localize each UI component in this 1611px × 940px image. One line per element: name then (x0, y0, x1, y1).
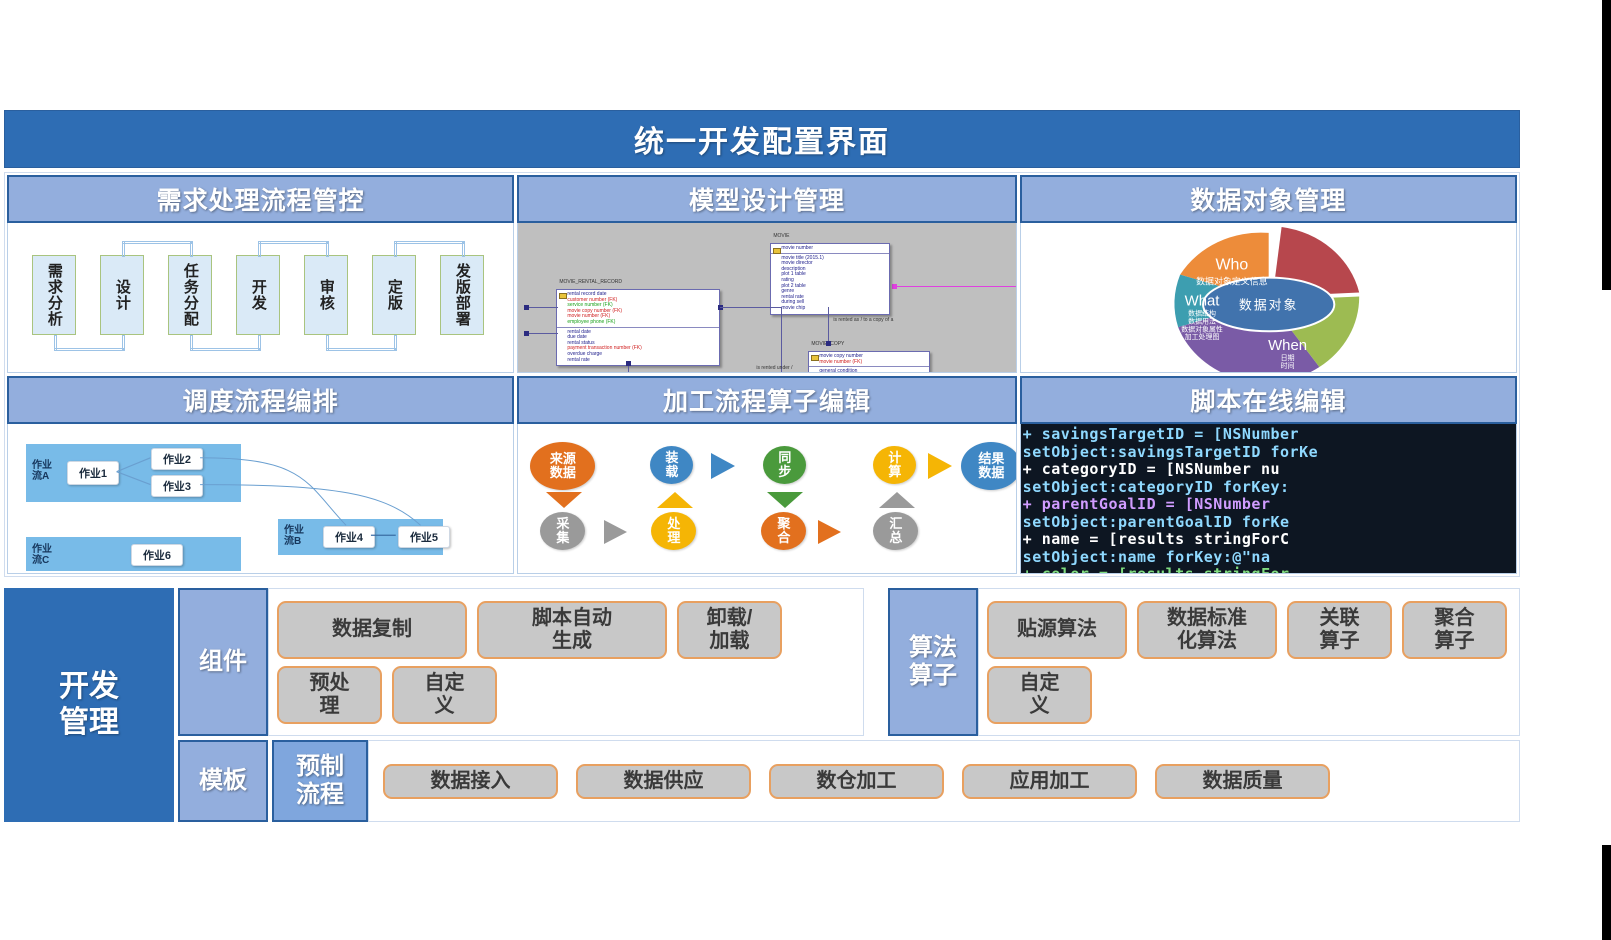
er-link (828, 307, 829, 343)
primary-key-icon (811, 355, 819, 361)
er-link (526, 307, 558, 308)
category-preflow-label: 预制 流程 (296, 753, 344, 809)
er-relationship-label: records rental of (756, 372, 792, 373)
er-table-movie[interactable]: MOVIE movie number movie title (2015.1) … (770, 243, 890, 315)
er-table-caption: MOVIE (773, 233, 789, 239)
donut-sub-how-1: 字段mapping信息 (1409, 268, 1463, 277)
donut-sub-when-0: 日期 (1280, 354, 1294, 362)
donut-label-how: How (1421, 240, 1453, 257)
chip-aggregate-operator[interactable]: 聚合 算子 (1402, 601, 1507, 659)
flow-step-6[interactable]: 发版部署 (440, 255, 484, 335)
template-chip-wrap: 数据接入 数据供应 数仓加工 应用加工 数据质量 (368, 740, 1520, 822)
panel-title-row-1: 需求处理流程管控 模型设计管理 数据对象管理 (7, 175, 1517, 223)
er-relationship-label: is rented under / (756, 365, 792, 371)
dev-management-title: 开发 管理 (4, 588, 174, 822)
right-edge-band-top (1602, 0, 1611, 290)
job-node-4[interactable]: 作业4 (323, 526, 375, 548)
code-line: setObject:parentGoalID forKe (1023, 514, 1516, 532)
dev-row-templates: 模板 预制 流程 数据接入 数据供应 数仓加工 应用加工 数据质量 (178, 740, 1520, 822)
er-canvas: MOVIE movie number movie title (2015.1) … (518, 223, 1015, 372)
arrow-right-icon (711, 453, 735, 479)
panel-body-row-2: 作业 流A 作业1 作业2 作业3 作业 流B 作业4 作业5 作业 流C 作业… (7, 424, 1517, 574)
er-endpoint (524, 305, 529, 310)
chip-join-operator[interactable]: 关联 算子 (1287, 601, 1392, 659)
chip-script-autogen[interactable]: 脚本自动 生成 (477, 601, 667, 659)
arrow-right-icon (604, 520, 627, 544)
flow-step-1[interactable]: 设计 (100, 255, 144, 335)
chip-custom-component[interactable]: 自定 义 (392, 666, 497, 724)
er-table-fields: rental date due date rental status payme… (557, 328, 719, 366)
donut-sub-what-2: 数据对象属性 (1181, 324, 1223, 333)
category-component-label: 组件 (199, 648, 247, 676)
job-lane-a-label: 作业 流A (32, 460, 52, 482)
donut-sub-how-3: 数据规范 (1425, 285, 1449, 293)
panel-operator-edit: 来源 数据 装 载 同 步 计 算 结果 数据 采 集 处 理 聚 合 汇 总 (517, 424, 1016, 574)
panel-title-row-2: 调度流程编排 加工流程算子编辑 脚本在线编辑 (7, 376, 1517, 424)
panel-header-operator[interactable]: 加工流程算子编辑 (517, 376, 1016, 424)
er-table-keys: movie number (771, 244, 889, 254)
arrow-right-icon (818, 520, 841, 544)
job-lane-a[interactable] (26, 444, 241, 502)
er-link-magenta (896, 286, 1016, 287)
er-endpoint (524, 331, 529, 336)
panel-schedule-flow: 作业 流A 作业1 作业2 作业3 作业 流B 作业4 作业5 作业 流C 作业… (7, 424, 514, 574)
donut-sub-how-0: 处理数据过程涉及的业务 (1398, 259, 1474, 268)
operator-node-collect[interactable]: 采 集 (540, 512, 585, 550)
er-endpoint (892, 284, 897, 289)
chip-data-ingest[interactable]: 数据接入 (383, 764, 558, 799)
dev-management-title-text: 开发 管理 (59, 669, 119, 741)
chip-standardization-algorithm[interactable]: 数据标准 化算法 (1137, 601, 1277, 659)
flow-connector (462, 241, 465, 257)
operator-node-source-data[interactable]: 来源 数据 (530, 442, 595, 490)
flow-step-5[interactable]: 定版 (372, 255, 416, 335)
er-endpoint (826, 341, 831, 346)
donut-center-label: 数据对象 (1239, 297, 1299, 312)
panel-header-script-label: 脚本在线编辑 (1190, 382, 1346, 418)
code-line: + categoryID = [NSNumber nu (1023, 461, 1516, 479)
category-template[interactable]: 模板 (178, 740, 268, 822)
flow-connector (258, 241, 328, 244)
job-node-1[interactable]: 作业1 (67, 461, 119, 485)
donut-sub-what-3: 加工处理图 (1184, 332, 1219, 341)
er-table-fields: movie title (2015.1) movie director desc… (771, 254, 889, 314)
job-lane-c-label: 作业 流C (32, 544, 52, 566)
dev-management-content: 组件 数据复制 脚本自动 生成 卸载/ 加载 预处 理 自定 义 算法 算子 贴… (178, 588, 1520, 822)
component-chip-list: 数据复制 脚本自动 生成 卸载/ 加载 预处 理 自定 义 (268, 588, 864, 736)
category-algorithm-label: 算法 算子 (909, 634, 957, 690)
donut-sub-who: 数据对象定义信息 (1196, 276, 1268, 287)
panel-header-model-label: 模型设计管理 (689, 181, 845, 217)
panel-header-requirement[interactable]: 需求处理流程管控 (7, 175, 514, 223)
operator-node-result-data[interactable]: 结果 数据 (961, 442, 1016, 490)
flow-connector (394, 241, 464, 244)
flow-connector (122, 241, 192, 244)
panel-header-schedule-label: 调度流程编排 (183, 382, 339, 418)
panel-header-dataobject-label: 数据对象管理 (1190, 181, 1346, 217)
chip-unload-load[interactable]: 卸载/ 加载 (677, 601, 782, 659)
code-line: setObject:savingsTargetID forKe (1023, 444, 1516, 462)
job-node-3[interactable]: 作业3 (151, 475, 203, 497)
code-line: + color = [results stringFor (1023, 566, 1516, 573)
code-line: + name = [results stringForC (1023, 531, 1516, 549)
panel-requirement-flow: 需求分析 设计 任务分配 开发 审核 定版 发版部署 (7, 223, 514, 373)
category-preflow[interactable]: 预制 流程 (272, 740, 368, 822)
er-link (526, 333, 558, 334)
er-table-fields: general condition movie format (809, 367, 929, 373)
panel-data-object: 数据对象 Who 数据对象定义信息 How 处理数据过程涉及的业务 字段mapp… (1020, 223, 1517, 373)
dev-row-components: 组件 数据复制 脚本自动 生成 卸载/ 加载 预处 理 自定 义 算法 算子 贴… (178, 588, 1520, 736)
flow-step-2[interactable]: 任务分配 (168, 255, 212, 335)
chip-data-quality[interactable]: 数据质量 (1155, 764, 1330, 799)
panel-model-design: MOVIE movie number movie title (2015.1) … (517, 223, 1016, 373)
donut-sub-what-1: 数据用法 (1188, 316, 1216, 325)
arrow-up-icon (657, 492, 693, 508)
er-table-keys: rental record date customer number (FK) … (557, 290, 719, 328)
algorithm-chip-list: 贴源算法 数据标准 化算法 关联 算子 聚合 算子 自定 义 (978, 588, 1520, 736)
donut-label-who: Who (1215, 257, 1248, 274)
donut-sub-when-1: 时间 (1280, 361, 1294, 370)
job-node-5[interactable]: 作业5 (398, 526, 450, 548)
arrow-down-icon (767, 492, 803, 508)
data-object-donut-chart: 数据对象 Who 数据对象定义信息 How 处理数据过程涉及的业务 字段mapp… (1021, 223, 1516, 372)
donut-sub-how-2: 数据交换规则 (1419, 277, 1455, 285)
operator-node-load[interactable]: 装 载 (650, 446, 693, 484)
panel-header-requirement-label: 需求处理流程管控 (157, 181, 365, 217)
code-line: + parentGoalID = [NSNumber (1023, 496, 1516, 514)
right-edge-band-bottom (1602, 845, 1611, 940)
flow-step-3[interactable]: 开发 (236, 255, 280, 335)
job-node-2[interactable]: 作业2 (151, 448, 203, 470)
primary-key-icon (559, 293, 567, 299)
panel-header-model[interactable]: 模型设计管理 (517, 175, 1016, 223)
flow-step-4[interactable]: 审核 (304, 255, 348, 335)
page-title: 统一开发配置界面 (4, 110, 1520, 168)
er-table-movie-copy[interactable]: MOVIE_COPY movie copy number movie numbe… (808, 351, 930, 373)
donut-sub-where-1: Mapping关系 (1398, 328, 1439, 337)
panel-grid: 需求处理流程管控 模型设计管理 数据对象管理 需求分析 设计 任务分配 开发 审… (4, 172, 1520, 577)
chip-source-algorithm[interactable]: 贴源算法 (987, 601, 1127, 659)
panel-header-script[interactable]: 脚本在线编辑 (1020, 376, 1517, 424)
category-component[interactable]: 组件 (178, 588, 268, 736)
flow-connector (258, 335, 261, 351)
donut-sub-what-0: 数据结构 (1188, 308, 1216, 317)
chip-data-replication[interactable]: 数据复制 (277, 601, 467, 659)
donut-label-when: When (1268, 338, 1307, 354)
flow-connector (326, 348, 396, 351)
operator-node-process[interactable]: 处 理 (651, 512, 696, 550)
component-group: 组件 数据复制 脚本自动 生成 卸载/ 加载 预处 理 自定 义 (178, 588, 864, 736)
donut-sub-where-0: 存放物理位置信息 (1391, 319, 1447, 328)
flow-connector (122, 335, 125, 351)
arrow-down-icon (546, 492, 582, 508)
er-endpoint (626, 361, 631, 366)
arrow-right-icon (928, 453, 952, 479)
operator-node-sync[interactable]: 同 步 (763, 446, 806, 484)
code-line: setObject:categoryID forKey: (1023, 479, 1516, 497)
primary-key-icon (773, 248, 781, 254)
code-editor[interactable]: + savingsTargetID = [NSNumber setObject:… (1021, 424, 1516, 573)
flow-connector (394, 335, 397, 351)
category-template-label: 模板 (199, 767, 247, 795)
chip-data-supply[interactable]: 数据供应 (576, 764, 751, 799)
operator-node-aggregate[interactable]: 聚 合 (761, 512, 806, 550)
flow-connector (190, 348, 260, 351)
panel-header-dataobject[interactable]: 数据对象管理 (1020, 175, 1517, 223)
chip-application-process[interactable]: 应用加工 (962, 764, 1137, 799)
donut-label-what: What (1184, 293, 1220, 309)
donut-sub-how-4: 数据约束图 (1422, 292, 1452, 300)
template-chip-list: 数据接入 数据供应 数仓加工 应用加工 数据质量 (368, 740, 1520, 822)
chip-warehouse-process[interactable]: 数仓加工 (769, 764, 944, 799)
flow-connector (190, 241, 193, 257)
category-algorithm[interactable]: 算法 算子 (888, 588, 978, 736)
er-table-caption: MOVIE_RENTAL_RECORD (559, 279, 622, 285)
er-table-movie-rental-record[interactable]: MOVIE_RENTAL_RECORD rental record date c… (556, 289, 720, 366)
panel-script-editor: + savingsTargetID = [NSNumber setObject:… (1020, 424, 1517, 574)
er-link (781, 307, 782, 373)
panel-header-schedule[interactable]: 调度流程编排 (7, 376, 514, 424)
flow-connector (326, 241, 329, 257)
panel-body-row-1: 需求分析 设计 任务分配 开发 审核 定版 发版部署 (7, 223, 1517, 373)
flow-connector (54, 348, 124, 351)
panel-header-operator-label: 加工流程算子编辑 (663, 382, 871, 418)
chip-custom-operator[interactable]: 自定 义 (987, 666, 1092, 724)
operator-node-compute[interactable]: 计 算 (873, 446, 916, 484)
er-link (720, 307, 782, 308)
page-title-text: 统一开发配置界面 (634, 117, 890, 161)
dev-management-section: 开发 管理 组件 数据复制 脚本自动 生成 卸载/ 加载 预处 理 自定 义 算… (4, 588, 1520, 822)
er-relationship-label: is rented as / to a copy of a (833, 317, 893, 323)
algorithm-group: 算法 算子 贴源算法 数据标准 化算法 关联 算子 聚合 算子 自定 义 (888, 588, 1520, 736)
code-line: setObject:name forKey:@"na (1023, 549, 1516, 567)
operator-node-summary[interactable]: 汇 总 (873, 512, 918, 550)
chip-preprocess[interactable]: 预处 理 (277, 666, 382, 724)
code-line: + savingsTargetID = [NSNumber (1023, 426, 1516, 444)
job-lane-b-label: 作业 流B (284, 525, 304, 547)
flow-step-0[interactable]: 需求分析 (32, 255, 76, 335)
donut-label-where: Where (1397, 302, 1441, 318)
job-node-6[interactable]: 作业6 (131, 544, 183, 566)
er-table-keys: movie copy number movie number (FK) (809, 352, 929, 367)
arrow-up-icon (879, 492, 915, 508)
